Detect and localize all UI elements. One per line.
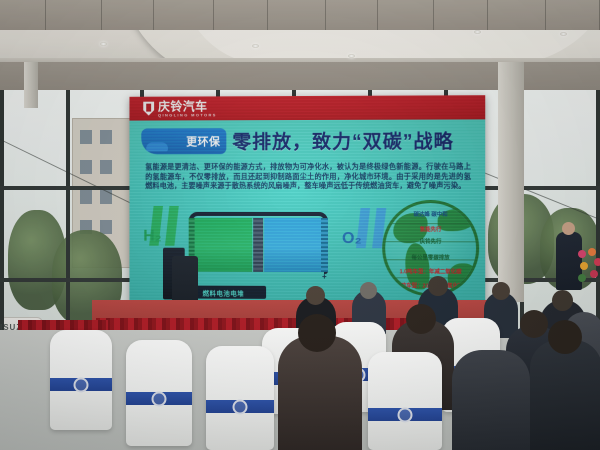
outside-building-window bbox=[80, 160, 92, 174]
globe-text-line: 碳达峰 碳中和 bbox=[385, 212, 476, 219]
audience-member bbox=[530, 340, 600, 450]
globe-text-line: 1.0吨车型：年减二氧化碳 bbox=[385, 269, 476, 276]
anode-chamber bbox=[195, 218, 253, 272]
audience-chair[interactable] bbox=[368, 352, 442, 450]
stone-block bbox=[434, 0, 488, 30]
ceiling-downlight bbox=[100, 42, 107, 46]
flower-bloom bbox=[590, 270, 598, 278]
audience-member bbox=[278, 336, 362, 450]
audience-head bbox=[360, 282, 377, 299]
stone-block bbox=[546, 0, 600, 30]
cathode-plate bbox=[321, 218, 328, 272]
audience-head bbox=[548, 320, 582, 354]
flower-arrangement bbox=[576, 248, 600, 290]
audience-head bbox=[492, 282, 510, 300]
truck-silhouette-icon bbox=[146, 142, 168, 151]
audience-head bbox=[406, 304, 436, 334]
slide-title: 零排放，致力“双碳”战略 bbox=[232, 127, 454, 155]
presenter-head bbox=[562, 222, 575, 235]
stone-block bbox=[0, 0, 46, 30]
slide-paragraph: 氢能源是更清洁、更环保的能源方式，排放物为可净化水，被认为是终极绿色新能源。行驶… bbox=[145, 162, 471, 191]
stone-block bbox=[268, 0, 326, 30]
outside-building-window bbox=[80, 190, 92, 204]
oxygen-label: O₂ bbox=[342, 230, 362, 248]
cathode-terminal-label: + bbox=[322, 272, 327, 281]
window-mullion bbox=[66, 90, 70, 340]
globe-text-line: 氢能先行 bbox=[385, 227, 476, 234]
qingling-logo-icon bbox=[143, 102, 154, 116]
outside-building-window bbox=[80, 130, 92, 144]
stone-block bbox=[102, 0, 154, 30]
hydrogen-label: H₂ bbox=[143, 228, 161, 246]
stone-block bbox=[46, 0, 102, 30]
audience-head bbox=[552, 290, 573, 311]
flower-bloom bbox=[578, 274, 586, 282]
stone-block bbox=[214, 0, 268, 30]
audience-head bbox=[428, 276, 448, 296]
ceiling-downlight bbox=[348, 54, 355, 58]
audience-chair[interactable] bbox=[126, 340, 192, 446]
proton-membrane bbox=[253, 218, 263, 272]
audience-chair[interactable] bbox=[206, 346, 274, 450]
globe-text-line: 庆铃先行 bbox=[385, 239, 476, 246]
audience-head bbox=[306, 286, 325, 305]
flower-bloom bbox=[594, 258, 600, 266]
diagram-caption-text: 燃料电池电堆 bbox=[203, 287, 245, 297]
stone-block bbox=[326, 0, 378, 30]
stone-block bbox=[378, 0, 434, 30]
audience-chair[interactable] bbox=[50, 330, 112, 430]
window-mullion bbox=[0, 90, 4, 340]
audience-head bbox=[298, 314, 336, 352]
chair-sash bbox=[368, 408, 442, 421]
chair-sash bbox=[50, 378, 112, 391]
interior-pillar bbox=[498, 62, 524, 302]
slide-badge-label: 更环保 bbox=[186, 133, 220, 149]
ceiling-downlight bbox=[252, 44, 259, 48]
brand-name-cn: 庆铃汽车 bbox=[158, 100, 217, 112]
ceiling-downlight bbox=[474, 30, 481, 34]
flower-bloom bbox=[588, 248, 596, 256]
stone-block bbox=[488, 0, 546, 30]
slide-badge: 更环保 bbox=[141, 128, 226, 154]
chair-sash bbox=[126, 392, 192, 405]
brand-name-en: QINGLING MOTORS bbox=[158, 112, 217, 117]
slide-brand-bar: 庆铃汽车 QINGLING MOTORS bbox=[129, 95, 485, 120]
outside-building-window bbox=[100, 160, 112, 174]
flower-bloom bbox=[578, 250, 586, 258]
globe-text-line: 每公里零碳排放 bbox=[385, 255, 476, 262]
ceiling-downlight bbox=[560, 32, 567, 36]
outside-building-window bbox=[100, 130, 112, 144]
audience-member bbox=[452, 350, 530, 450]
stone-block bbox=[154, 0, 214, 30]
photo-scene: ISUZU ISUZU ISUZU ISUZU 庆铃汽车 QINGLING MO… bbox=[0, 0, 600, 450]
globe-latitude-line bbox=[382, 223, 479, 224]
interior-pillar bbox=[24, 62, 38, 108]
cathode-chamber bbox=[264, 218, 322, 272]
flower-bloom bbox=[580, 262, 588, 270]
window-mullion bbox=[596, 90, 600, 340]
audience-head bbox=[520, 310, 548, 338]
chair-sash bbox=[206, 400, 274, 413]
